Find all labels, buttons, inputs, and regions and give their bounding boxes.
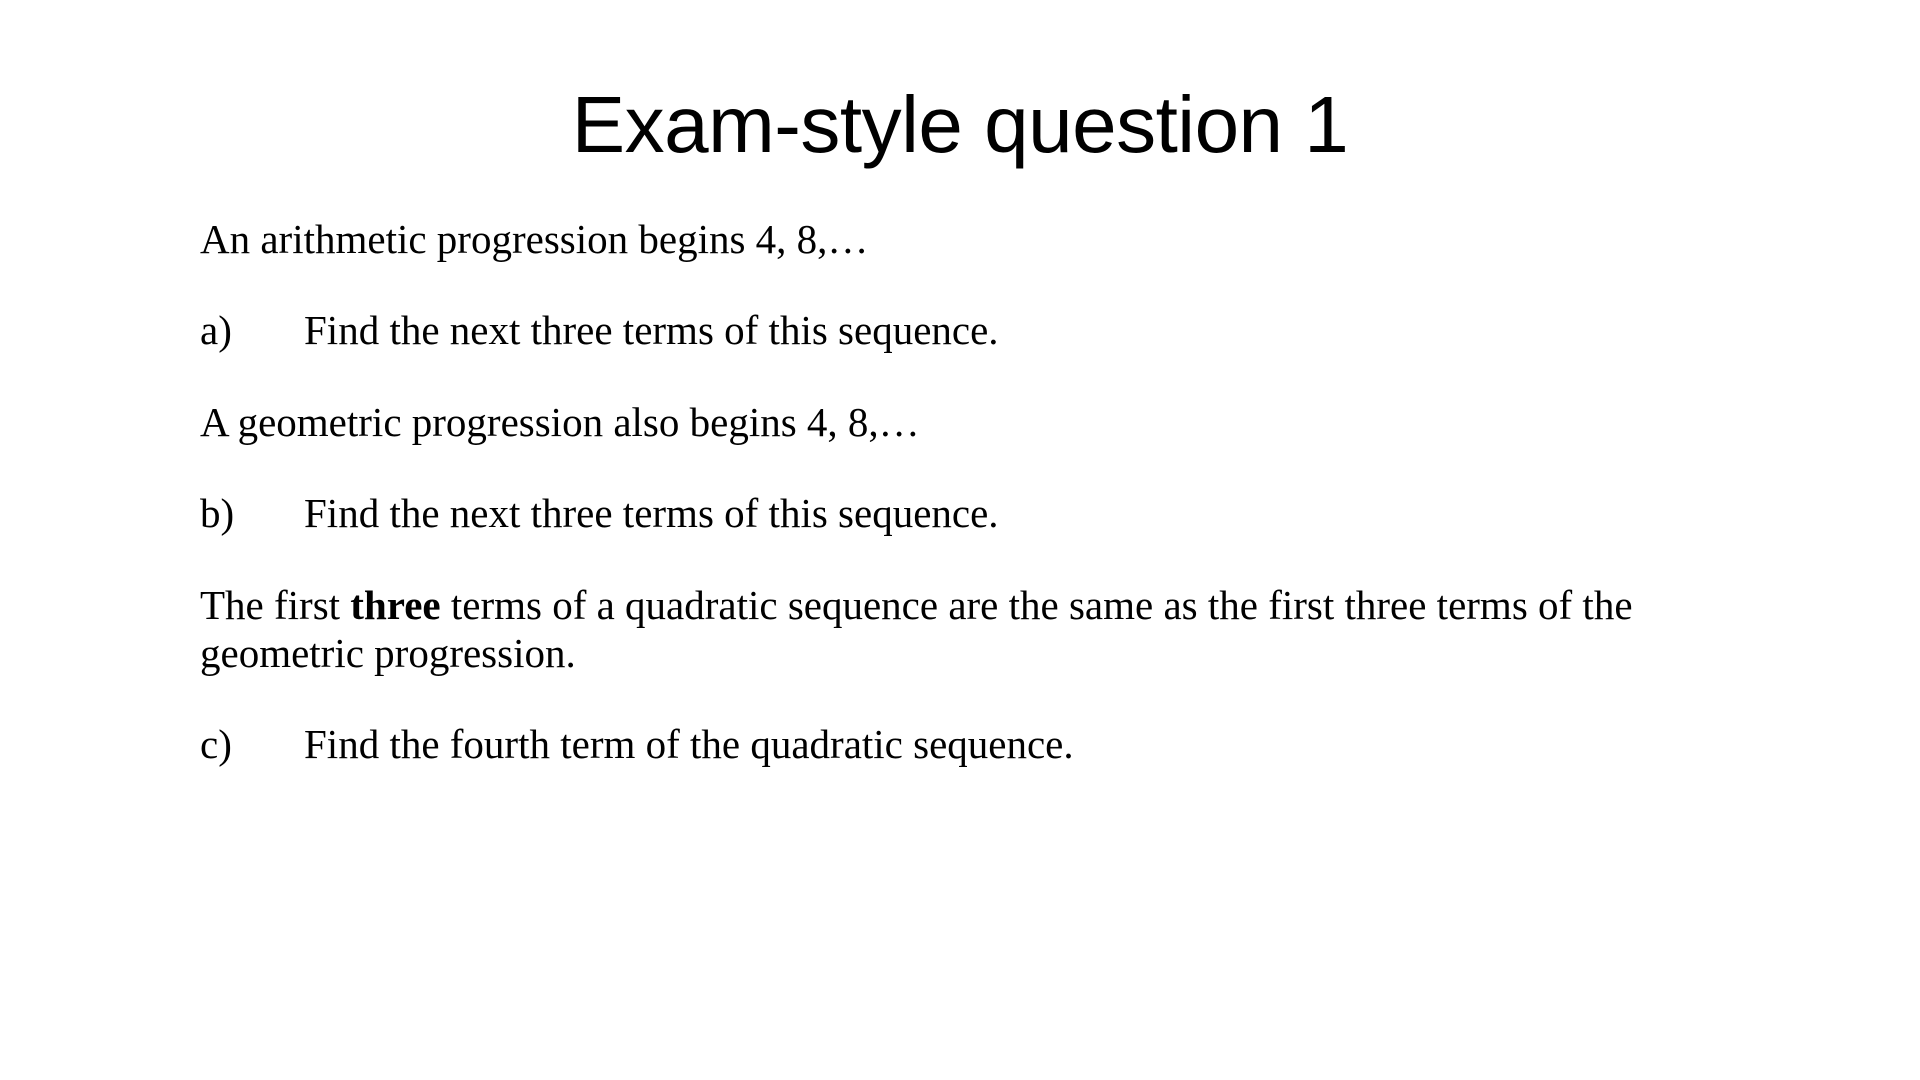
slide-body-content: An arithmetic progression begins 4, 8,… … xyxy=(200,215,1740,769)
paragraph-geometric-intro: A geometric progression also begins 4, 8… xyxy=(200,398,1740,446)
list-item-a-text: Find the next three terms of this sequen… xyxy=(304,307,999,353)
list-item-a: a)Find the next three terms of this sequ… xyxy=(200,306,1740,354)
list-item-c-text: Find the fourth term of the quadratic se… xyxy=(304,721,1074,767)
list-marker-a: a) xyxy=(200,306,304,354)
quadratic-intro-text-before: The first xyxy=(200,582,350,628)
list-item-b: b)Find the next three terms of this sequ… xyxy=(200,489,1740,537)
paragraph-arithmetic-intro: An arithmetic progression begins 4, 8,… xyxy=(200,215,1740,263)
paragraph-quadratic-intro: The first three terms of a quadratic seq… xyxy=(200,581,1710,678)
list-item-c: c)Find the fourth term of the quadratic … xyxy=(200,720,1740,768)
slide-title: Exam-style question 1 xyxy=(0,80,1920,170)
quadratic-intro-bold-word: three xyxy=(350,582,440,628)
slide-canvas: Exam-style question 1 An arithmetic prog… xyxy=(0,0,1920,1080)
list-item-b-text: Find the next three terms of this sequen… xyxy=(304,490,999,536)
list-marker-b: b) xyxy=(200,489,304,537)
list-marker-c: c) xyxy=(200,720,304,768)
